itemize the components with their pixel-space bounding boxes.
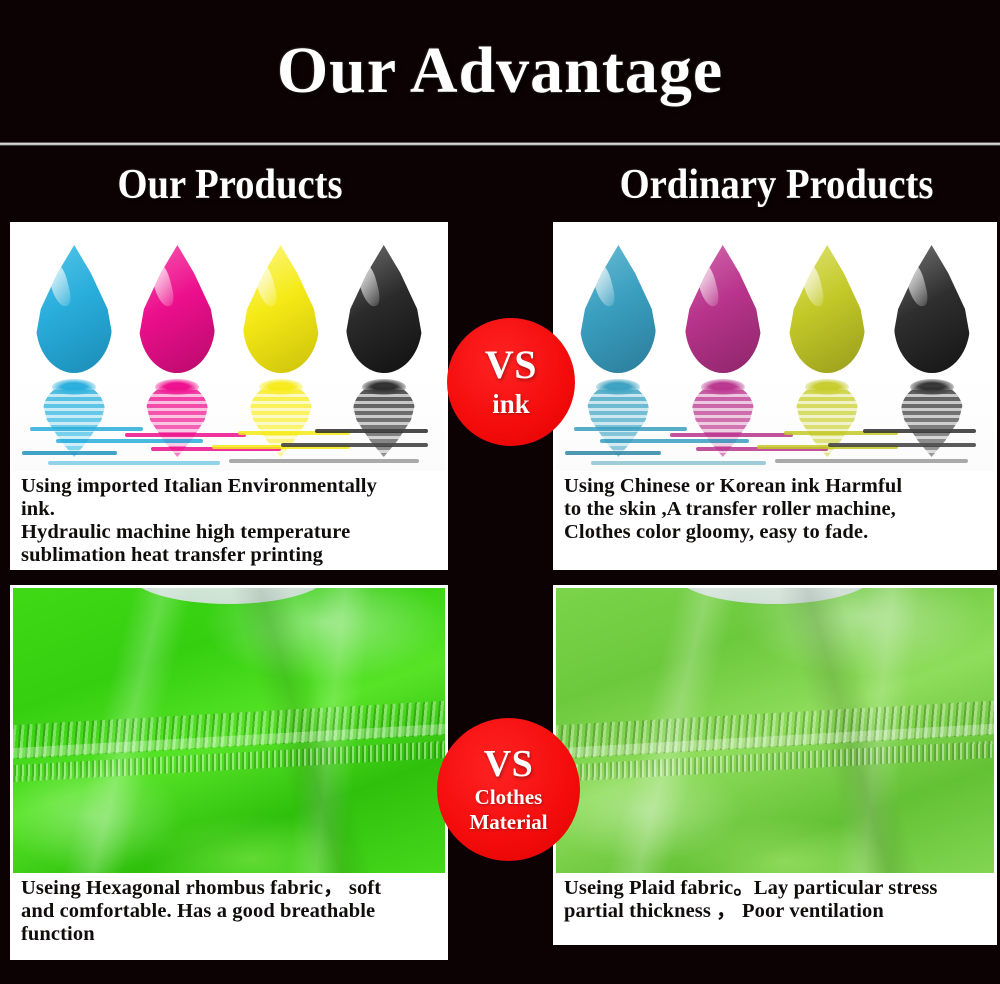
panel-our-fabric: Useing Hexagonal rhombus fabric， soft an… — [10, 585, 448, 960]
caption-ordinary-ink: Using Chinese or Korean ink Harmful to t… — [556, 471, 994, 549]
vs-label: VS — [484, 746, 534, 783]
vs-subject-label-line1: Clothes — [475, 786, 543, 808]
caption-line: Using Chinese or Korean ink Harmful — [564, 475, 988, 498]
vs-subject-label-line2: Material — [469, 811, 547, 833]
caption-line: sublimation heat transfer printing — [21, 544, 439, 567]
column-heading-our-products: Our Products — [28, 150, 433, 220]
caption-ordinary-fabric: Useing Plaid fabric。Lay particular stres… — [556, 873, 994, 928]
caption-line: Useing Hexagonal rhombus fabric， soft — [21, 877, 439, 900]
caption-line: ink. — [21, 498, 439, 521]
our-ink-image — [13, 225, 445, 471]
water-ripples — [556, 407, 994, 471]
caption-our-fabric: Useing Hexagonal rhombus fabric， soft an… — [13, 873, 445, 951]
caption-line: Hydraulic machine high temperature — [21, 521, 439, 544]
panel-our-ink: Using imported Italian Environmentally i… — [10, 222, 448, 570]
water-ripples — [13, 407, 445, 471]
our-fabric-image — [13, 588, 445, 873]
vs-badge-ink: VS ink — [447, 318, 575, 446]
column-heading-ordinary-products: Ordinary Products — [571, 150, 982, 220]
header-banner: Our Advantage — [0, 0, 1000, 142]
caption-line: function — [21, 923, 439, 946]
caption-line: to the skin ,A transfer roller machine, — [564, 498, 988, 521]
ordinary-fabric-image — [556, 588, 994, 873]
ordinary-ink-image — [556, 225, 994, 471]
caption-line: partial thickness ， Poor ventilation — [564, 900, 988, 923]
caption-line: and comfortable. Has a good breathable — [21, 900, 439, 923]
caption-line: Using imported Italian Environmentally — [21, 475, 439, 498]
caption-line: Clothes color gloomy, easy to fade. — [564, 521, 988, 544]
page-title: Our Advantage — [277, 33, 723, 109]
column-headings: Our Products Ordinary Products — [0, 150, 1000, 220]
vs-label: VS — [485, 345, 537, 384]
advantage-infographic: Our Advantage Our Products Ordinary Prod… — [0, 0, 1000, 984]
panel-ordinary-fabric: Useing Plaid fabric。Lay particular stres… — [553, 585, 997, 945]
panel-ordinary-ink: Using Chinese or Korean ink Harmful to t… — [553, 222, 997, 570]
caption-our-ink: Using imported Italian Environmentally i… — [13, 471, 445, 570]
vs-subject-label: ink — [492, 390, 530, 419]
header-divider — [0, 142, 1000, 146]
vs-badge-clothes-material: VS Clothes Material — [437, 718, 580, 861]
caption-line: Useing Plaid fabric。Lay particular stres… — [564, 877, 988, 900]
